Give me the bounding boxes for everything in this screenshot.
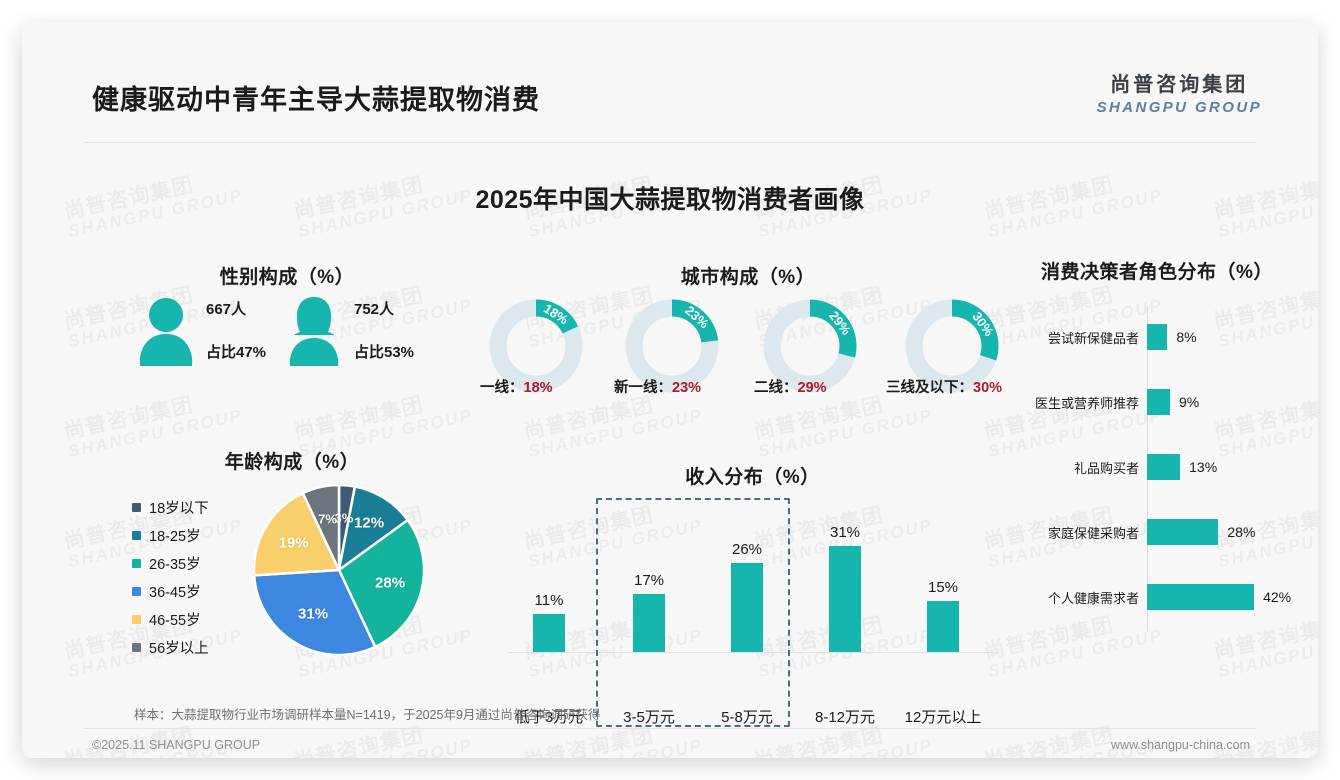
sample-note: 样本：大蒜提取物行业市场调研样本量N=1419，于2025年9月通过尚普咨询调研…: [134, 704, 600, 723]
donut-caption-label: 新一线：: [614, 380, 672, 396]
age-legend-item[interactable]: 26-35岁: [132, 549, 209, 577]
pie-slice-label: 7%: [318, 511, 337, 526]
header-divider: [84, 142, 1256, 143]
donut-caption-value: 30%: [973, 380, 1002, 396]
age-legend-label: 56岁以上: [149, 637, 209, 658]
role-row[interactable]: 个人健康需求者42%: [1007, 583, 1291, 611]
role-row[interactable]: 尝试新保健品者8%: [1007, 323, 1197, 351]
age-pie-chart: 3%12%28%31%19%7%: [254, 485, 424, 655]
age-legend-label: 18-25岁: [149, 525, 201, 546]
chart-subtitle: 2025年中国大蒜提取物消费者画像: [22, 180, 1318, 216]
website-url[interactable]: www.shangpu-china.com: [1111, 738, 1250, 752]
role-label: 礼品购买者: [1007, 458, 1139, 477]
age-legend-item[interactable]: 36-45岁: [132, 577, 209, 605]
age-legend-item[interactable]: 18岁以下: [132, 493, 209, 521]
age-legend: 18岁以下18-25岁26-35岁36-45岁46-55岁56岁以上: [132, 493, 209, 661]
role-bar[interactable]: [1147, 454, 1180, 480]
footer-divider: [84, 728, 1256, 729]
pie-slice-label: 31%: [298, 605, 328, 622]
donut-caption: 二线：29%: [754, 376, 827, 397]
male-person-icon: [138, 294, 194, 366]
income-bar-value: 15%: [904, 579, 982, 596]
male-share: 占比47%: [206, 341, 266, 362]
copyright-text: ©2025.11 SHANGPU GROUP: [92, 738, 260, 752]
age-legend-label: 46-55岁: [149, 609, 201, 630]
role-value: 9%: [1179, 394, 1199, 410]
legend-swatch-icon: [132, 643, 141, 652]
pie-slice-label: 19%: [279, 535, 309, 552]
donut-caption: 新一线：23%: [614, 376, 701, 397]
role-value: 13%: [1189, 459, 1217, 475]
logo-chinese-text: 尚普咨询集团: [1097, 68, 1262, 97]
header: 健康驱动中青年主导大蒜提取物消费 尚普咨询集团 SHANGPU GROUP: [22, 22, 1318, 112]
role-label: 个人健康需求者: [1007, 588, 1139, 607]
gender-item-female: 752人 占比53%: [286, 294, 414, 366]
donut-caption-label: 三线及以下：: [886, 380, 973, 396]
page-title: 健康驱动中青年主导大蒜提取物消费: [92, 78, 540, 117]
role-bar[interactable]: [1147, 519, 1218, 545]
logo-english-text: SHANGPU GROUP: [1097, 99, 1262, 116]
pie-slice-label: 28%: [375, 575, 405, 592]
role-label: 医生或营养师推荐: [1007, 393, 1139, 412]
age-legend-label: 36-45岁: [149, 581, 201, 602]
income-section-title: 收入分布（%）: [685, 462, 819, 489]
donut-caption-value: 23%: [672, 380, 701, 396]
income-bar[interactable]: [829, 546, 861, 652]
legend-swatch-icon: [132, 615, 141, 624]
male-count: 667人: [206, 298, 266, 319]
income-bar-column[interactable]: 31%: [806, 524, 884, 652]
income-bar-column[interactable]: 15%: [904, 579, 982, 652]
age-section-title: 年龄构成（%）: [225, 447, 359, 474]
income-bar-category: 12万元以上: [893, 706, 993, 727]
role-row[interactable]: 礼品购买者13%: [1007, 453, 1217, 481]
city-section-title: 城市构成（%）: [681, 262, 815, 289]
role-value: 8%: [1176, 329, 1196, 345]
role-label: 家庭保健采购者: [1007, 523, 1139, 542]
income-distribution-section: 收入分布（%） 11%低于3万元17%3-5万元26%5-8万元31%8-12万…: [500, 462, 1005, 687]
role-value: 42%: [1263, 589, 1291, 605]
donut-caption: 一线：18%: [480, 376, 553, 397]
age-legend-item[interactable]: 46-55岁: [132, 605, 209, 633]
pie-slice-label: 3%: [335, 510, 354, 525]
pie-slice-label: 12%: [354, 514, 384, 531]
income-bar[interactable]: [927, 601, 959, 652]
role-row[interactable]: 医生或营养师推荐9%: [1007, 388, 1199, 416]
infographic-card: 尚普咨询集团SHANGPU GROUP尚普咨询集团SHANGPU GROUP尚普…: [22, 22, 1318, 758]
donut-caption-label: 二线：: [754, 380, 798, 396]
role-bar[interactable]: [1147, 324, 1167, 350]
income-bar-column[interactable]: 11%: [510, 592, 588, 652]
donut-caption-value: 29%: [798, 380, 827, 396]
donut-caption-value: 18%: [524, 380, 553, 396]
income-bar-category: 8-12万元: [795, 706, 895, 727]
gender-item-male: 667人 占比47%: [138, 294, 266, 366]
brand-logo: 尚普咨询集团 SHANGPU GROUP: [1097, 68, 1262, 116]
roles-section-title: 消费决策者角色分布（%）: [1041, 257, 1273, 284]
female-person-icon: [286, 294, 342, 366]
female-share: 占比53%: [354, 341, 414, 362]
age-composition-section: 年龄构成（%） 18岁以下18-25岁26-35岁36-45岁46-55岁56岁…: [122, 447, 462, 677]
gender-section-title: 性别构成（%）: [220, 262, 354, 289]
income-bar-value: 31%: [806, 524, 884, 541]
income-highlight-box: [596, 498, 790, 727]
female-count: 752人: [354, 298, 414, 319]
income-bar-chart: 11%低于3万元17%3-5万元26%5-8万元31%8-12万元15%12万元…: [500, 510, 1005, 652]
city-composition-section: 城市构成（%） 18%一线：18%23%新一线：23%29%二线：29%30%三…: [474, 262, 1022, 402]
role-bar[interactable]: [1147, 584, 1254, 610]
legend-swatch-icon: [132, 531, 141, 540]
age-legend-label: 26-35岁: [149, 553, 201, 574]
role-value: 28%: [1227, 524, 1255, 540]
role-label: 尝试新保健品者: [1007, 328, 1139, 347]
income-bar-value: 11%: [510, 592, 588, 609]
role-row[interactable]: 家庭保健采购者28%: [1007, 518, 1255, 546]
age-legend-item[interactable]: 56岁以上: [132, 633, 209, 661]
legend-swatch-icon: [132, 559, 141, 568]
donut-caption-label: 一线：: [480, 380, 524, 396]
donut-caption: 三线及以下：30%: [886, 376, 1002, 397]
income-bar[interactable]: [533, 614, 565, 652]
gender-composition-section: 性别构成（%） 667人 占比47% 752人 占比53%: [122, 262, 452, 392]
role-bar[interactable]: [1147, 389, 1170, 415]
age-legend-item[interactable]: 18-25岁: [132, 521, 209, 549]
decision-role-section: 消费决策者角色分布（%） 尝试新保健品者8%医生或营养师推荐9%礼品购买者13%…: [1007, 257, 1307, 637]
legend-swatch-icon: [132, 503, 141, 512]
age-legend-label: 18岁以下: [149, 497, 209, 518]
legend-swatch-icon: [132, 587, 141, 596]
